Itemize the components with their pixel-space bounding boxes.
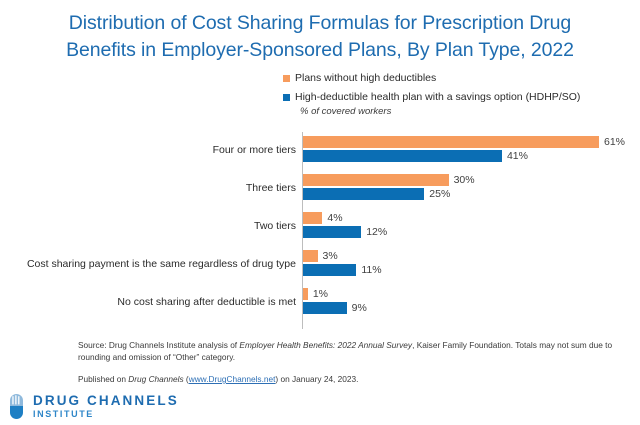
page-title: Distribution of Cost Sharing Formulas fo…	[40, 10, 600, 64]
bar-row-series-1: 61%	[303, 136, 625, 148]
drug-channels-institute-logo: DRUG CHANNELS INSTITUTE	[9, 393, 179, 420]
footnotes: Source: Drug Channels Institute analysis…	[78, 340, 623, 386]
bar-series-2[interactable]	[303, 226, 361, 238]
bar-row-series-2: 12%	[303, 226, 387, 238]
bar-value-label: 41%	[507, 150, 528, 162]
published-note-post: on January 24, 2023.	[278, 374, 358, 384]
bar-series-1[interactable]	[303, 250, 318, 262]
bar-series-1[interactable]	[303, 136, 599, 148]
bar-chart-plot-area: Four or more tiers 61% 41% Three tiers 3…	[0, 130, 640, 330]
capsule-icon	[9, 393, 24, 420]
bar-row-series-1: 1%	[303, 288, 328, 300]
legend-item-plans-without-high-deductibles[interactable]: Plans without high deductibles	[283, 72, 633, 84]
bar-series-2[interactable]	[303, 302, 347, 314]
bar-row-series-2: 41%	[303, 150, 528, 162]
category-label: No cost sharing after deductible is met	[0, 296, 296, 308]
bar-series-2[interactable]	[303, 264, 356, 276]
category-label: Two tiers	[0, 220, 296, 232]
bar-value-label: 25%	[429, 188, 450, 200]
bar-row-series-1: 3%	[303, 250, 338, 262]
bar-value-label: 3%	[323, 250, 338, 262]
chart-legend: Plans without high deductibles High-dedu…	[283, 72, 633, 110]
category-group: Four or more tiers 61% 41%	[0, 135, 640, 173]
bar-value-label: 12%	[366, 226, 387, 238]
published-note-pre: Published on	[78, 374, 128, 384]
category-group: No cost sharing after deductible is met …	[0, 287, 640, 325]
source-note: Source: Drug Channels Institute analysis…	[78, 340, 623, 363]
bar-series-2[interactable]	[303, 188, 424, 200]
logo-text: DRUG CHANNELS INSTITUTE	[33, 394, 179, 420]
bar-series-2[interactable]	[303, 150, 502, 162]
legend-swatch-orange-icon	[283, 75, 290, 82]
bar-value-label: 11%	[361, 264, 381, 276]
bar-row-series-2: 9%	[303, 302, 367, 314]
bar-value-label: 30%	[454, 174, 475, 186]
bar-row-series-2: 25%	[303, 188, 450, 200]
bar-row-series-2: 11%	[303, 264, 382, 276]
legend-swatch-blue-icon	[283, 94, 290, 101]
drugchannels-link[interactable]: www.DrugChannels.net	[189, 374, 276, 384]
legend-label-series-2: High-deductible health plan with a savin…	[295, 91, 580, 103]
bar-series-1[interactable]	[303, 212, 322, 224]
logo-subtitle: INSTITUTE	[33, 410, 179, 419]
bar-row-series-1: 4%	[303, 212, 343, 224]
legend-label-series-1: Plans without high deductibles	[295, 72, 436, 84]
category-group: Two tiers 4% 12%	[0, 211, 640, 249]
category-label: Three tiers	[0, 182, 296, 194]
published-note: Published on Drug Channels (www.DrugChan…	[78, 374, 623, 386]
published-note-publication: Drug Channels	[128, 374, 183, 384]
category-group: Cost sharing payment is the same regardl…	[0, 249, 640, 287]
bar-value-label: 61%	[604, 136, 625, 148]
axis-subtitle: % of covered workers	[300, 106, 391, 117]
logo-name: DRUG CHANNELS	[33, 394, 179, 408]
category-label: Cost sharing payment is the same regardl…	[0, 258, 296, 270]
bar-value-label: 1%	[313, 288, 328, 300]
category-label: Four or more tiers	[0, 144, 296, 156]
category-group: Three tiers 30% 25%	[0, 173, 640, 211]
bar-value-label: 4%	[327, 212, 342, 224]
source-note-pre: Source: Drug Channels Institute analysis…	[78, 340, 239, 350]
bar-row-series-1: 30%	[303, 174, 475, 186]
bar-value-label: 9%	[352, 302, 367, 314]
bar-series-1[interactable]	[303, 288, 308, 300]
bar-series-1[interactable]	[303, 174, 449, 186]
legend-item-hdhp-so[interactable]: High-deductible health plan with a savin…	[283, 91, 633, 103]
source-note-title: Employer Health Benefits: 2022 Annual Su…	[239, 340, 412, 350]
